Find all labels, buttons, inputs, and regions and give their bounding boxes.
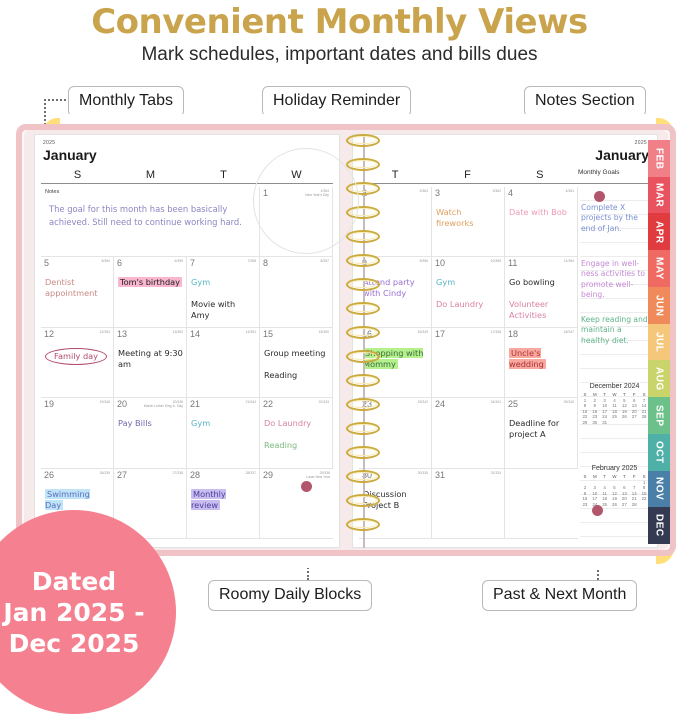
day-meta: 17/348 [491,330,501,334]
month-tabs[interactable]: FEBMARAPRMAYJUNJULAUGSEPOCTNOVDEC [648,140,670,544]
day-meta: 15/350 [319,330,329,334]
day-number: 6 [117,258,122,268]
spiral-ring [346,446,380,459]
day-meta: 20/345Martin Luther King Jr. Day [144,400,183,408]
badge-line-2: Jan 2025 - [3,597,144,628]
mini-day: 31 [600,420,610,426]
day-event-text: Go bowling [509,277,555,287]
day-cell[interactable]: 2121/344Gym [187,398,260,468]
mini-day [610,420,620,426]
day-number: 18 [508,329,518,339]
day-cell[interactable]: 77/358GymMovie with Amy [187,257,260,327]
badge-line-3: Dec 2025 [3,628,144,659]
badge-line-1: Dated [3,566,144,597]
day-event[interactable]: Monthly review [191,489,256,511]
day-event[interactable]: Do Laundry [264,418,329,429]
day-event-text: Reading [264,370,297,380]
goal-rule-line [580,354,649,355]
weekday-t-0: T [359,169,431,183]
day-number: 10 [435,258,445,268]
goal-rule-line [580,452,649,453]
day-meta: 29/336Lunar New Year [306,471,330,479]
spiral-ring [346,302,380,315]
day-cell[interactable]: 1717/348 [432,328,505,398]
day-cell[interactable]: 1414/351 [187,328,260,398]
callout-monthly-tabs: Monthly Tabs [68,86,184,117]
day-meta: 11/354 [564,259,574,263]
day-number: 29 [263,470,273,480]
day-meta: 13/352 [173,330,183,334]
day-event-text: Do Laundry [436,299,483,309]
day-number: 15 [263,329,273,339]
day-event[interactable]: Gym [436,277,501,288]
day-number: 7 [190,258,195,268]
day-number: 19 [44,399,54,409]
callout-holiday-reminder: Holiday Reminder [262,86,411,117]
monthly-goal-text[interactable]: Engage in well-ness activities to promot… [581,259,649,301]
day-event[interactable]: Uncle's wedding [509,348,574,370]
spiral-ring [346,518,380,531]
day-meta: 18/347 [564,330,574,334]
day-event-text: Reading [264,440,297,450]
month-tab-label: APR [654,221,665,244]
month-tab-sep[interactable]: SEP [648,397,670,434]
weekday-s-0: S [41,169,114,183]
day-event[interactable]: Family day [45,348,110,365]
day-event-text: Monthly review [191,489,226,510]
month-tab-label: FEB [654,148,665,170]
day-event[interactable]: Do Laundry [436,299,501,310]
day-number: 8 [263,258,268,268]
day-meta: 30/335 [418,471,428,475]
day-number: 20 [117,399,127,409]
day-cell[interactable]: 1111/354Go bowlingVolunteer Activities [505,257,578,327]
holiday-dot-day29 [301,481,312,492]
day-event[interactable]: Dentist appointment [45,277,110,299]
spiral-spine [363,136,365,548]
day-event[interactable]: Date with Bob [509,207,574,218]
mini-day: 28 [629,502,639,508]
day-cell[interactable]: 1212/353Family day [41,328,114,398]
holiday-dot-goals [594,191,605,202]
day-event[interactable]: Reading [264,370,329,381]
day-event-text: Volunteer Activities [509,299,548,320]
callout-past-next-month: Past & Next Month [482,580,637,611]
holiday-reminder-magnifier [253,148,359,254]
spiral-ring [346,278,380,291]
day-meta: 3/362 [493,189,502,193]
day-meta: 19/346 [100,400,110,404]
right-page-month-title: January [595,147,649,163]
day-number: 17 [435,329,445,339]
day-meta: 23/342 [418,400,428,404]
day-cell[interactable]: 33/362Watch fireworks [432,187,505,257]
month-tab-label: NOV [654,477,665,500]
month-tab-may[interactable]: MAY [648,250,670,287]
day-event[interactable]: Meeting at 9:30 am [118,348,183,370]
day-meta: 16/349 [418,330,428,334]
day-event-text: Tom's birthday [118,277,182,287]
day-meta: 31/334 [491,471,501,475]
day-event[interactable]: Volunteer Activities [509,299,574,321]
day-cell[interactable]: 55/360Dentist appointment [41,257,114,327]
weekday-m-1: M [114,169,187,183]
month-tab-feb[interactable]: FEB [648,140,670,177]
notes-block[interactable]: NotesThe goal for this month has been ba… [41,187,260,257]
callout-notes-section: Notes Section [524,86,646,117]
notes-text: The goal for this month has been basical… [49,203,253,229]
day-event[interactable]: Pay Bills [118,418,183,429]
goal-rule-line [580,536,649,537]
day-meta: 8/357 [321,259,330,263]
day-number: 4 [508,188,513,198]
mini-calendar-grid: SMTWTFS123456789101112131415161718192021… [580,392,649,426]
day-meta: 24/341 [491,400,501,404]
month-tab-label: JUL [654,332,665,352]
right-page-year: 2025 [635,140,647,146]
spiral-ring [346,158,380,171]
month-tab-label: DEC [654,514,665,537]
day-number: 22 [263,399,273,409]
day-cell[interactable]: 2020/345Martin Luther King Jr. DayPay Bi… [114,398,187,468]
weekday-s-2: S [504,169,576,183]
day-meta: 22/343 [319,400,329,404]
left-page-month-title: January [43,147,97,163]
right-page-day-grid: 22/36333/362Watch fireworks44/361Date wi… [359,187,578,539]
mini-calendar-grid: SMTWTFS123456789101112131415161718192021… [580,474,649,508]
day-event-text: Family day [45,348,107,365]
left-page-year: 2025 [43,140,55,146]
day-number: 27 [117,470,127,480]
mini-calendar-title: February 2025 [580,465,649,472]
month-tab-jul[interactable]: JUL [648,324,670,361]
spiral-ring [346,230,380,243]
day-event-text: Date with Bob [509,207,567,217]
day-event-text: Gym [191,277,210,287]
day-event-text: Gym [436,277,455,287]
month-tab-label: MAY [654,257,665,280]
month-tab-apr[interactable]: APR [648,213,670,250]
right-page: 2025 January TFSMonthly Goals 22/36333/3… [352,134,658,548]
mini-calendar-title: December 2024 [580,383,649,390]
day-cell[interactable] [505,469,578,539]
day-number: 26 [44,470,54,480]
spiral-ring [346,254,380,267]
day-meta: 27/338 [173,471,183,475]
goal-rule-line [580,312,649,313]
day-event[interactable]: Gym [191,277,256,288]
monthly-goals-column: Complete X projects by the end of Jan.En… [578,187,651,539]
day-event[interactable]: Group meeting [264,348,329,359]
day-meta: 28/337 [246,471,256,475]
goal-rule-line [580,522,649,523]
day-event[interactable]: Watch fireworks [436,207,501,229]
spiral-ring [346,494,380,507]
spiral-ring [346,326,380,339]
day-event-text: Watch fireworks [436,207,473,228]
mini-calendar[interactable]: December 2024SMTWTFS12345678910111213141… [580,383,649,426]
month-tab-label: JUN [654,295,665,317]
day-cell[interactable]: 99/356Attend party with Cindy [359,257,432,327]
day-cell[interactable]: 2525/340Deadline for project A [505,398,578,468]
day-event[interactable]: Gym [191,418,256,429]
month-tab-oct[interactable]: OCT [648,434,670,471]
day-cell[interactable]: 66/359Tom's birthday [114,257,187,327]
day-number: 31 [435,470,445,480]
weekday-t-2: T [187,169,260,183]
day-event[interactable]: Swimming Day [45,489,110,511]
day-number: 13 [117,329,127,339]
day-cell[interactable]: 44/361Date with Bob [505,187,578,257]
day-event-text: Do Laundry [264,418,311,428]
day-cell[interactable]: 2828/337Monthly review [187,469,260,539]
month-tab-nov[interactable]: NOV [648,471,670,508]
month-tab-aug[interactable]: AUG [648,360,670,397]
day-number: 28 [190,470,200,480]
weekday-f-1: F [431,169,503,183]
day-event-text: Deadline for project A [509,418,559,439]
spiral-ring [346,398,380,411]
month-tab-mar[interactable]: MAR [648,177,670,214]
mini-calendar[interactable]: February 2025SMTWTFS12345678910111213141… [580,465,649,508]
day-cell[interactable]: 3131/334 [432,469,505,539]
day-meta: 6/359 [175,259,184,263]
day-meta: 12/353 [100,330,110,334]
mini-day: 26 [610,502,620,508]
month-tab-jun[interactable]: JUN [648,287,670,324]
day-number: 24 [435,399,445,409]
day-cell[interactable]: 2424/341 [432,398,505,468]
notes-label: Notes [45,189,59,195]
goal-rule-line [580,200,649,201]
day-event-text: Dentist appointment [45,277,98,298]
day-event-text: Movie with Amy [191,299,235,320]
day-event-text: Meeting at 9:30 am [118,348,183,369]
day-event[interactable]: Go bowling [509,277,574,288]
screenshot-root: Convenient Monthly Views Mark schedules,… [0,0,679,656]
spiral-ring [346,374,380,387]
month-tab-dec[interactable]: DEC [648,507,670,544]
day-meta: 21/344 [246,400,256,404]
month-tab-label: OCT [654,441,665,464]
page-title: Convenient Monthly Views [0,2,679,42]
goal-rule-line [580,368,649,369]
mini-day [629,420,639,426]
day-cell[interactable]: 88/357 [260,257,333,327]
day-number: 14 [190,329,200,339]
day-cell[interactable]: 1818/347Uncle's wedding [505,328,578,398]
day-number: 12 [44,329,54,339]
goal-rule-line [580,242,649,243]
day-meta: 26/339 [100,471,110,475]
day-number: 5 [44,258,49,268]
day-cell[interactable]: 1515/350Group meetingReading [260,328,333,398]
day-meta: 25/340 [564,400,574,404]
day-event-text: Uncle's wedding [509,348,546,369]
spiral-ring [346,134,380,147]
day-meta: 9/356 [420,259,429,263]
holiday-dot-feb-mini [592,505,603,516]
mini-day: 23 [580,502,590,508]
day-cell[interactable]: 2929/336Lunar New Year [260,469,333,539]
monthly-goal-text[interactable]: Keep reading and maintain a healthy diet… [581,315,649,346]
day-event-text: Gym [191,418,210,428]
day-event[interactable]: Tom's birthday [118,277,183,288]
day-event-text: Group meeting [264,348,325,358]
mini-day: 29 [580,420,590,426]
day-meta: 5/360 [102,259,111,263]
callout-roomy-daily-blocks: Roomy Daily Blocks [208,580,372,611]
day-meta: 14/351 [246,330,256,334]
day-number: 21 [190,399,200,409]
day-cell[interactable]: 22/363 [359,187,432,257]
monthly-goals-header: Monthly Goals [576,169,651,183]
day-event-text: Pay Bills [118,418,152,428]
mini-day [619,420,629,426]
spiral-ring [346,350,380,363]
day-event[interactable]: Reading [264,440,329,451]
month-tab-label: AUG [654,367,665,391]
spiral-ring [346,422,380,435]
month-tab-label: MAR [654,183,665,207]
day-cell[interactable]: 1010/355GymDo Laundry [432,257,505,327]
day-number: 25 [508,399,518,409]
day-cell[interactable]: 1919/346 [41,398,114,468]
mini-day: 27 [619,502,629,508]
day-meta: 2/363 [420,189,429,193]
day-number: 3 [435,188,440,198]
day-event[interactable]: Movie with Amy [191,299,256,321]
day-event-text: Swimming Day [45,489,90,510]
leader-line-monthly-tabs-h [44,99,66,101]
monthly-goal-text[interactable]: Complete X projects by the end of Jan. [581,203,649,234]
day-cell[interactable]: 1313/352Meeting at 9:30 am [114,328,187,398]
goal-rule-line [580,256,649,257]
day-meta: 7/358 [248,259,257,263]
goal-rule-line [580,438,649,439]
spiral-ring [346,470,380,483]
day-meta: 4/361 [566,189,575,193]
goal-rule-line [580,508,649,509]
right-page-weekday-header: TFSMonthly Goals [359,169,651,184]
day-event[interactable]: Deadline for project A [509,418,574,440]
day-cell[interactable]: 2222/343Do LaundryReading [260,398,333,468]
mini-day: 30 [590,420,600,426]
page-subtitle: Mark schedules, important dates and bill… [0,44,679,66]
month-tab-label: SEP [654,405,665,427]
day-number: 11 [508,258,517,268]
day-meta: 10/355 [491,259,501,263]
